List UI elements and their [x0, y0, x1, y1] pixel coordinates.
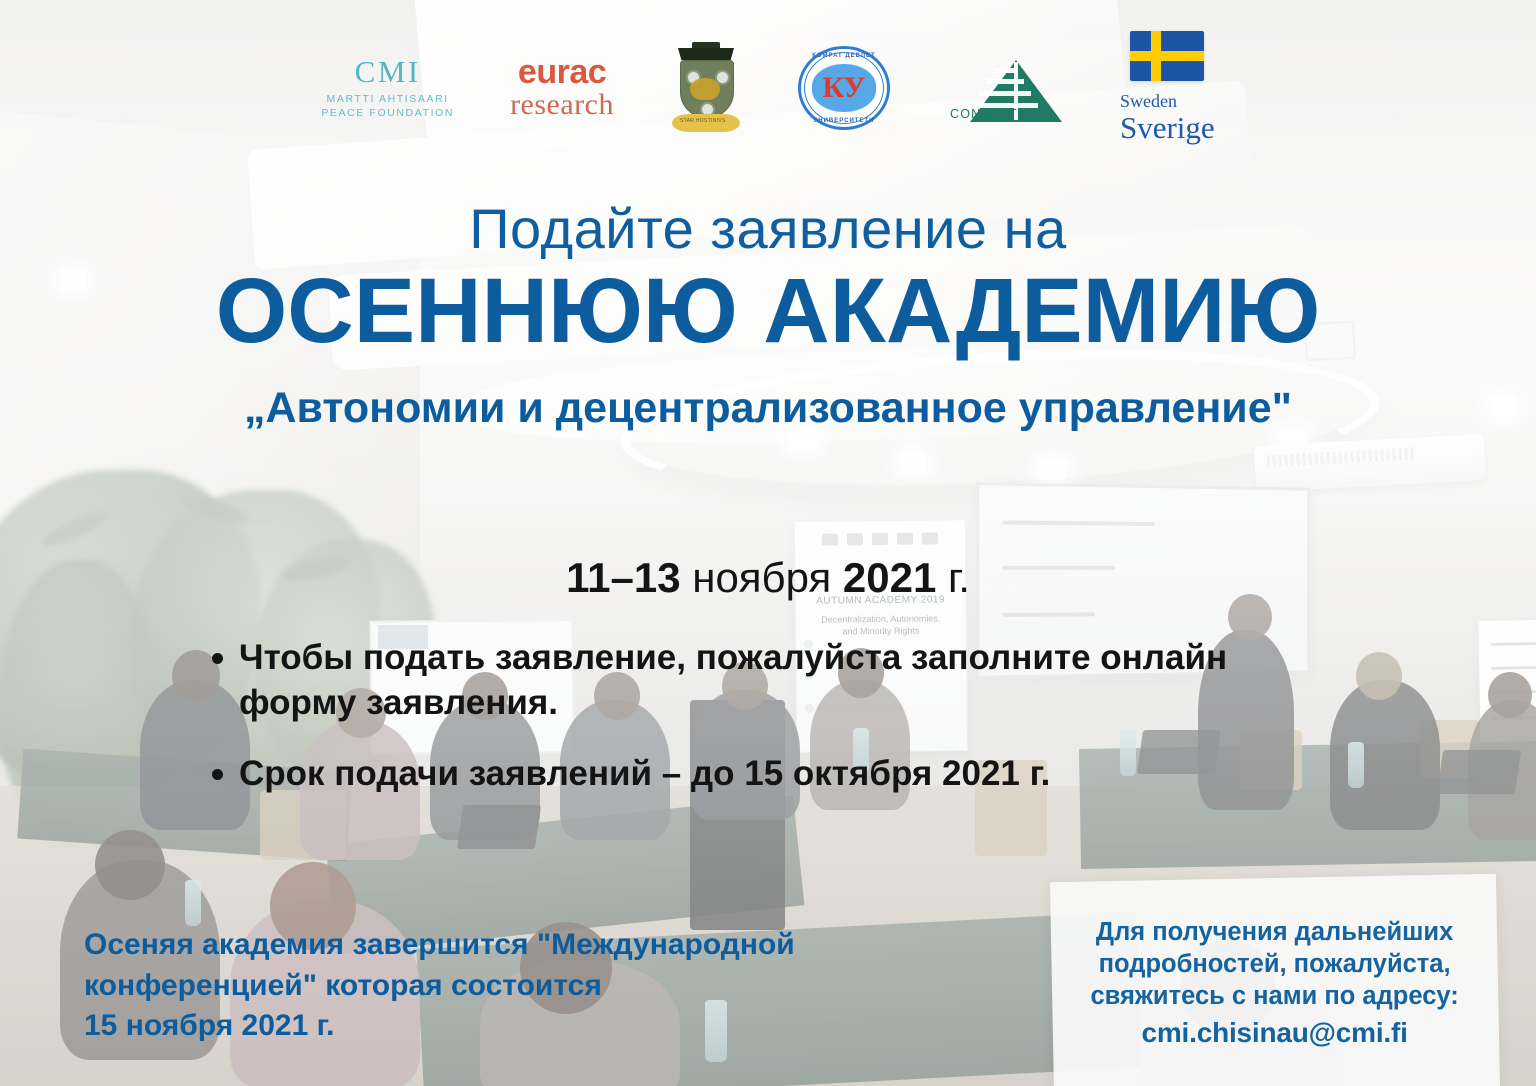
contact-wordmark: CONTACT [950, 107, 1018, 121]
sweden-flag-icon [1130, 31, 1204, 81]
ksu-monogram: КУ [798, 73, 890, 103]
sweden-sverige-logo: Sweden Sverige [1120, 31, 1215, 145]
cmi-tagline-line2: PEACE FOUNDATION [321, 107, 454, 121]
headline-subtitle: „Автономии и децентрализованное управлен… [0, 385, 1536, 432]
cmi-logo: CMI MARTTI AHTISAARI PEACE FOUNDATION [321, 56, 454, 121]
sweden-label-sv: Sverige [1120, 112, 1215, 145]
university-crest-logo: STAR HOSTINIVS [670, 40, 742, 136]
list-item: Чтобы подать заявление, пожалуйста запол… [212, 636, 1342, 726]
cmi-tagline: MARTTI AHTISAARI PEACE FOUNDATION [321, 93, 454, 121]
contact-card: Для получения дальнейших подробностей, п… [1050, 874, 1500, 1086]
ksu-arc-top-text: КОМРАТ ДЕВЛЕТ [798, 53, 890, 59]
contact-email-link[interactable]: cmi.chisinau@cmi.fi [1068, 1015, 1482, 1050]
poster-canvas: AUTUMN ACADEMY 2019 Decentralization, Au… [0, 0, 1536, 1086]
list-item: Срок подачи заявлений – до 15 октября 20… [212, 752, 1342, 797]
list-item-text: Чтобы подать заявление, пожалуйста запол… [239, 636, 1342, 726]
contact-line3: свяжитесь с нами по адресу: [1068, 980, 1482, 1012]
eurac-research-logo: eurac research [510, 56, 614, 119]
crest-graduation-cap-icon [678, 48, 734, 60]
pyramid-slit [986, 79, 1024, 84]
contact-line1: Для получения дальнейших [1068, 916, 1482, 948]
conference-note-line2: конференцией" которая состоится [84, 966, 984, 1007]
conference-note: Осеняя академия завершится "Международно… [84, 925, 984, 1047]
list-item-text: Срок подачи заявлений – до 15 октября 20… [239, 752, 1342, 797]
cmi-wordmark: CMI [355, 56, 421, 87]
ksu-seal: КОМРАТ ДЕВЛЕТ КУ УНИВЕРСИТЕТИ [798, 46, 890, 130]
ksu-arc-bottom-text: УНИВЕРСИТЕТИ [798, 118, 890, 124]
event-date-range: 11–13 [566, 554, 680, 601]
headline-kicker: Подайте заявление на [0, 200, 1536, 259]
crest-ribbon-text: STAR HOSTINIVS [680, 118, 726, 124]
contact-card-content: Для получения дальнейших подробностей, п… [1052, 878, 1498, 1051]
contact-line2: подробностей, пожалуйста, [1068, 948, 1482, 980]
conference-note-line1: Осеняя академия завершится "Международно… [84, 925, 984, 966]
crest-ox-head-icon [690, 78, 720, 100]
eurac-wordmark: eurac [518, 56, 606, 88]
sweden-wordmark: Sweden Sverige [1120, 92, 1215, 145]
contact-logo: CONTACT [946, 46, 1064, 130]
eurac-research-word: research [510, 90, 614, 120]
pyramid-slit [979, 91, 1031, 96]
crest-shape: STAR HOSTINIVS [670, 40, 742, 136]
ksu-logo: КОМРАТ ДЕВЛЕТ КУ УНИВЕРСИТЕТИ [798, 46, 890, 130]
contact-pyramid-icon: CONTACT [946, 46, 1064, 130]
instruction-list: Чтобы подать заявление, пожалуйста запол… [212, 636, 1342, 822]
event-dates: 11–13 ноября 2021 г. [0, 555, 1536, 601]
event-date-suffix: г. [948, 554, 970, 601]
partner-logo-strip: CMI MARTTI AHTISAARI PEACE FOUNDATION eu… [0, 34, 1536, 142]
cmi-tagline-line1: MARTTI AHTISAARI [321, 93, 454, 107]
conference-note-line3: 15 ноября 2021 г. [84, 1006, 984, 1047]
event-date-month: ноября [692, 554, 831, 601]
headline-block: Подайте заявление на ОСЕННЮЮ АКАДЕМИЮ „А… [0, 200, 1536, 432]
flag-horizontal-bar [1130, 51, 1204, 61]
bullet-dot-icon [212, 769, 223, 780]
bullet-dot-icon [212, 653, 223, 664]
page-title: ОСЕННЮЮ АКАДЕМИЮ [0, 265, 1536, 359]
event-date-year: 2021 [843, 554, 936, 601]
flag-vertical-bar [1151, 31, 1161, 81]
sweden-label-en: Sweden [1120, 92, 1215, 110]
